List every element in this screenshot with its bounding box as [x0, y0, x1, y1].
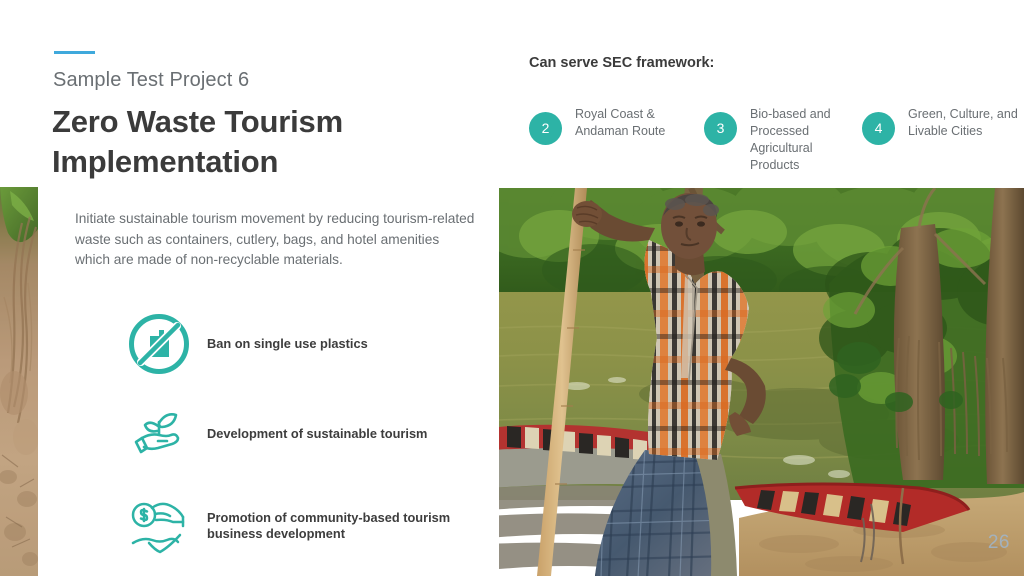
boatman-with-pole-beside-river-photo	[499, 188, 1024, 576]
main-photo: 26	[499, 188, 1024, 576]
page-number: 26	[988, 532, 1010, 554]
page-title: Zero Waste Tourism Implementation	[52, 102, 472, 182]
sec-framework-item[interactable]: 2 Royal Coast & Andaman Route	[529, 104, 704, 145]
sec-framework-list: 2 Royal Coast & Andaman Route 3 Bio-base…	[529, 104, 1024, 174]
feature-item[interactable]: Promotion of community-based tourism bus…	[123, 486, 463, 566]
sec-badge-3: 3	[704, 112, 737, 145]
no-plastic-bag-icon	[123, 306, 195, 382]
tree-roots-sandy-bank-photo	[0, 187, 38, 576]
feature-item[interactable]: Development of sustainable tourism	[123, 400, 463, 468]
sec-framework-item[interactable]: 3 Bio-based and Processed Agricultural P…	[704, 104, 862, 174]
sec-label-4: Green, Culture, and Livable Cities	[908, 104, 1022, 140]
sec-badge-2: 2	[529, 112, 562, 145]
feature-list: Ban on single use plastics Development o…	[123, 306, 463, 576]
slide: Sample Test Project 6 Zero Waste Tourism…	[0, 0, 1024, 576]
feature-label: Development of sustainable tourism	[207, 426, 427, 442]
body-paragraph: Initiate sustainable tourism movement by…	[75, 209, 475, 271]
hand-coin-checkmark-icon	[123, 486, 195, 566]
sec-badge-4: 4	[862, 112, 895, 145]
sec-framework-heading: Can serve SEC framework:	[529, 53, 719, 73]
feature-item[interactable]: Ban on single use plastics	[123, 306, 463, 382]
edge-photo-strip	[0, 187, 38, 576]
sec-framework-item[interactable]: 4 Green, Culture, and Livable Cities	[862, 104, 1022, 145]
accent-rule	[54, 51, 95, 54]
eyebrow-text: Sample Test Project 6	[53, 66, 249, 94]
sec-label-3: Bio-based and Processed Agricultural Pro…	[750, 104, 862, 174]
feature-label: Ban on single use plastics	[207, 336, 368, 352]
feature-label: Promotion of community-based tourism bus…	[207, 510, 463, 542]
sec-label-2: Royal Coast & Andaman Route	[575, 104, 704, 140]
hand-sprout-icon	[123, 400, 195, 468]
